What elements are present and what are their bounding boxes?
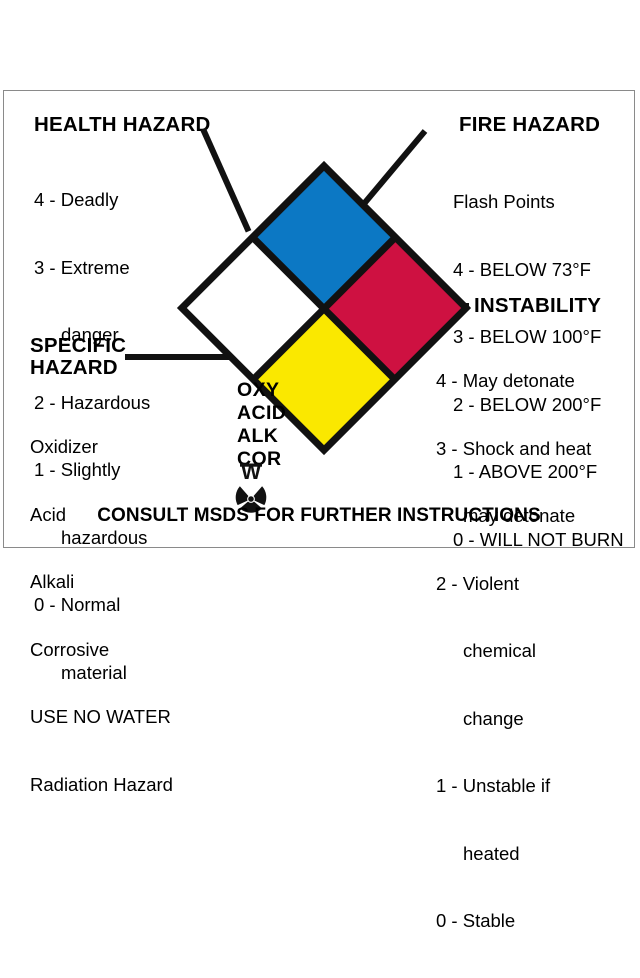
code-oxy: OXY (237, 379, 286, 402)
specific-hazard-heading-line2: HAZARD (30, 356, 118, 380)
fire-subheading: Flash Points (453, 191, 624, 214)
crossed-w-icon: W (236, 459, 266, 481)
specific-item-oxidizer: Oxidizer (30, 436, 173, 459)
nfpa-diamond (177, 161, 471, 455)
specific-item-alkali: Alkali (30, 571, 173, 594)
specific-item-use-no-water: USE NO WATER (30, 706, 173, 729)
code-alk: ALK (237, 425, 286, 448)
instability-item-2-cont2: change (436, 708, 591, 731)
nfpa-diamond-quadrants (177, 161, 471, 455)
fire-hazard-heading: FIRE HAZARD (459, 113, 600, 137)
code-acid: ACID (237, 402, 286, 425)
instability-item-1-cont: heated (436, 843, 591, 866)
specific-hazard-list: Oxidizer Acid Alkali Corrosive USE NO WA… (30, 391, 173, 841)
specific-hazard-heading-line1: SPECIFIC (30, 334, 126, 358)
fire-item-4: 4 - BELOW 73°F (453, 259, 624, 282)
instability-item-1: 1 - Unstable if (436, 775, 591, 798)
nfpa-hazard-sign: HEALTH HAZARD 4 - Deadly 3 - Extreme dan… (3, 90, 635, 548)
instability-heading: INSTABILITY (474, 294, 601, 318)
specific-hazard-codes: OXY ACID ALK COR (237, 379, 286, 471)
health-item-3: 3 - Extreme (34, 257, 150, 280)
instability-item-0: 0 - Stable (436, 910, 591, 933)
instability-item-2: 2 - Violent (436, 573, 591, 596)
consult-msds-caption: CONSULT MSDS FOR FURTHER INSTRUCTIONS (4, 505, 634, 527)
instability-item-2-cont1: chemical (436, 640, 591, 663)
health-hazard-heading: HEALTH HAZARD (34, 113, 210, 137)
specific-item-radiation-hazard: Radiation Hazard (30, 774, 173, 797)
specific-item-corrosive: Corrosive (30, 639, 173, 662)
health-item-4: 4 - Deadly (34, 189, 150, 212)
